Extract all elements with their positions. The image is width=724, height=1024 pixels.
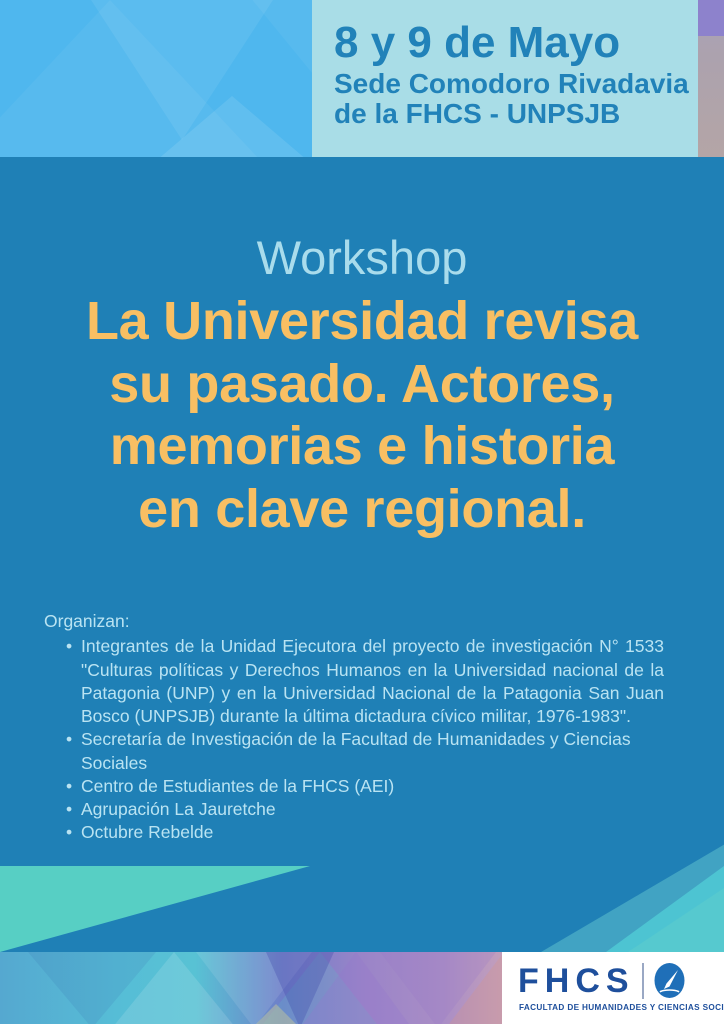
decorative-triangle-icon	[0, 866, 310, 952]
event-venue-line-1: Sede Comodoro Rivadavia	[334, 69, 698, 98]
organizers-section: Organizan: Integrantes de la Unidad Ejec…	[44, 610, 664, 845]
list-item: Octubre Rebelde	[66, 821, 664, 844]
quill-nib-icon	[653, 962, 686, 999]
poster-body: Workshop La Universidad revisa su pasado…	[0, 157, 724, 952]
event-venue-line-2: de la FHCS - UNPSJB	[334, 99, 698, 128]
organizers-list: Integrantes de la Unidad Ejecutora del p…	[44, 635, 664, 844]
event-kicker: Workshop	[0, 230, 724, 285]
list-item: Integrantes de la Unidad Ejecutora del p…	[66, 635, 664, 728]
header-edge-strip	[698, 0, 724, 157]
event-date: 8 y 9 de Mayo	[334, 20, 698, 66]
list-item: Secretaría de Investigación de la Facult…	[66, 728, 664, 775]
list-item: Centro de Estudiantes de la FHCS (AEI)	[66, 775, 664, 798]
fhcs-logo-subtitle: FACULTAD DE HUMANIDADES Y CIENCIAS SOCIA…	[519, 1003, 724, 1012]
logo-divider	[642, 963, 644, 999]
header-geometric-pattern-left	[0, 0, 312, 157]
decorative-triangle-icon	[150, 96, 312, 157]
header-band: 8 y 9 de Mayo Sede Comodoro Rivadavia de…	[0, 0, 724, 157]
event-title-line: su pasado. Actores,	[26, 353, 698, 416]
header-text-group: 8 y 9 de Mayo Sede Comodoro Rivadavia de…	[334, 20, 698, 128]
decorative-triangle-icon	[250, 1004, 302, 1024]
teal-accent-strip	[0, 866, 724, 952]
fhcs-logo-lockup: FHCS	[518, 962, 686, 999]
event-title-line: en clave regional.	[26, 478, 698, 541]
organizers-heading: Organizan:	[44, 610, 664, 633]
decorative-triangle-icon	[628, 888, 724, 952]
decorative-triangle-icon	[236, 0, 312, 90]
event-title-line: memorias e historia	[26, 415, 698, 478]
event-title-line: La Universidad revisa	[26, 290, 698, 353]
event-title: La Universidad revisa su pasado. Actores…	[26, 290, 698, 541]
poster: 8 y 9 de Mayo Sede Comodoro Rivadavia de…	[0, 0, 724, 1024]
list-item: Agrupación La Jauretche	[66, 798, 664, 821]
fhcs-logo: FHCS FACULTAD DE HUMANIDADES Y CIENCIAS …	[502, 952, 724, 1024]
fhcs-acronym: FHCS	[518, 964, 635, 998]
